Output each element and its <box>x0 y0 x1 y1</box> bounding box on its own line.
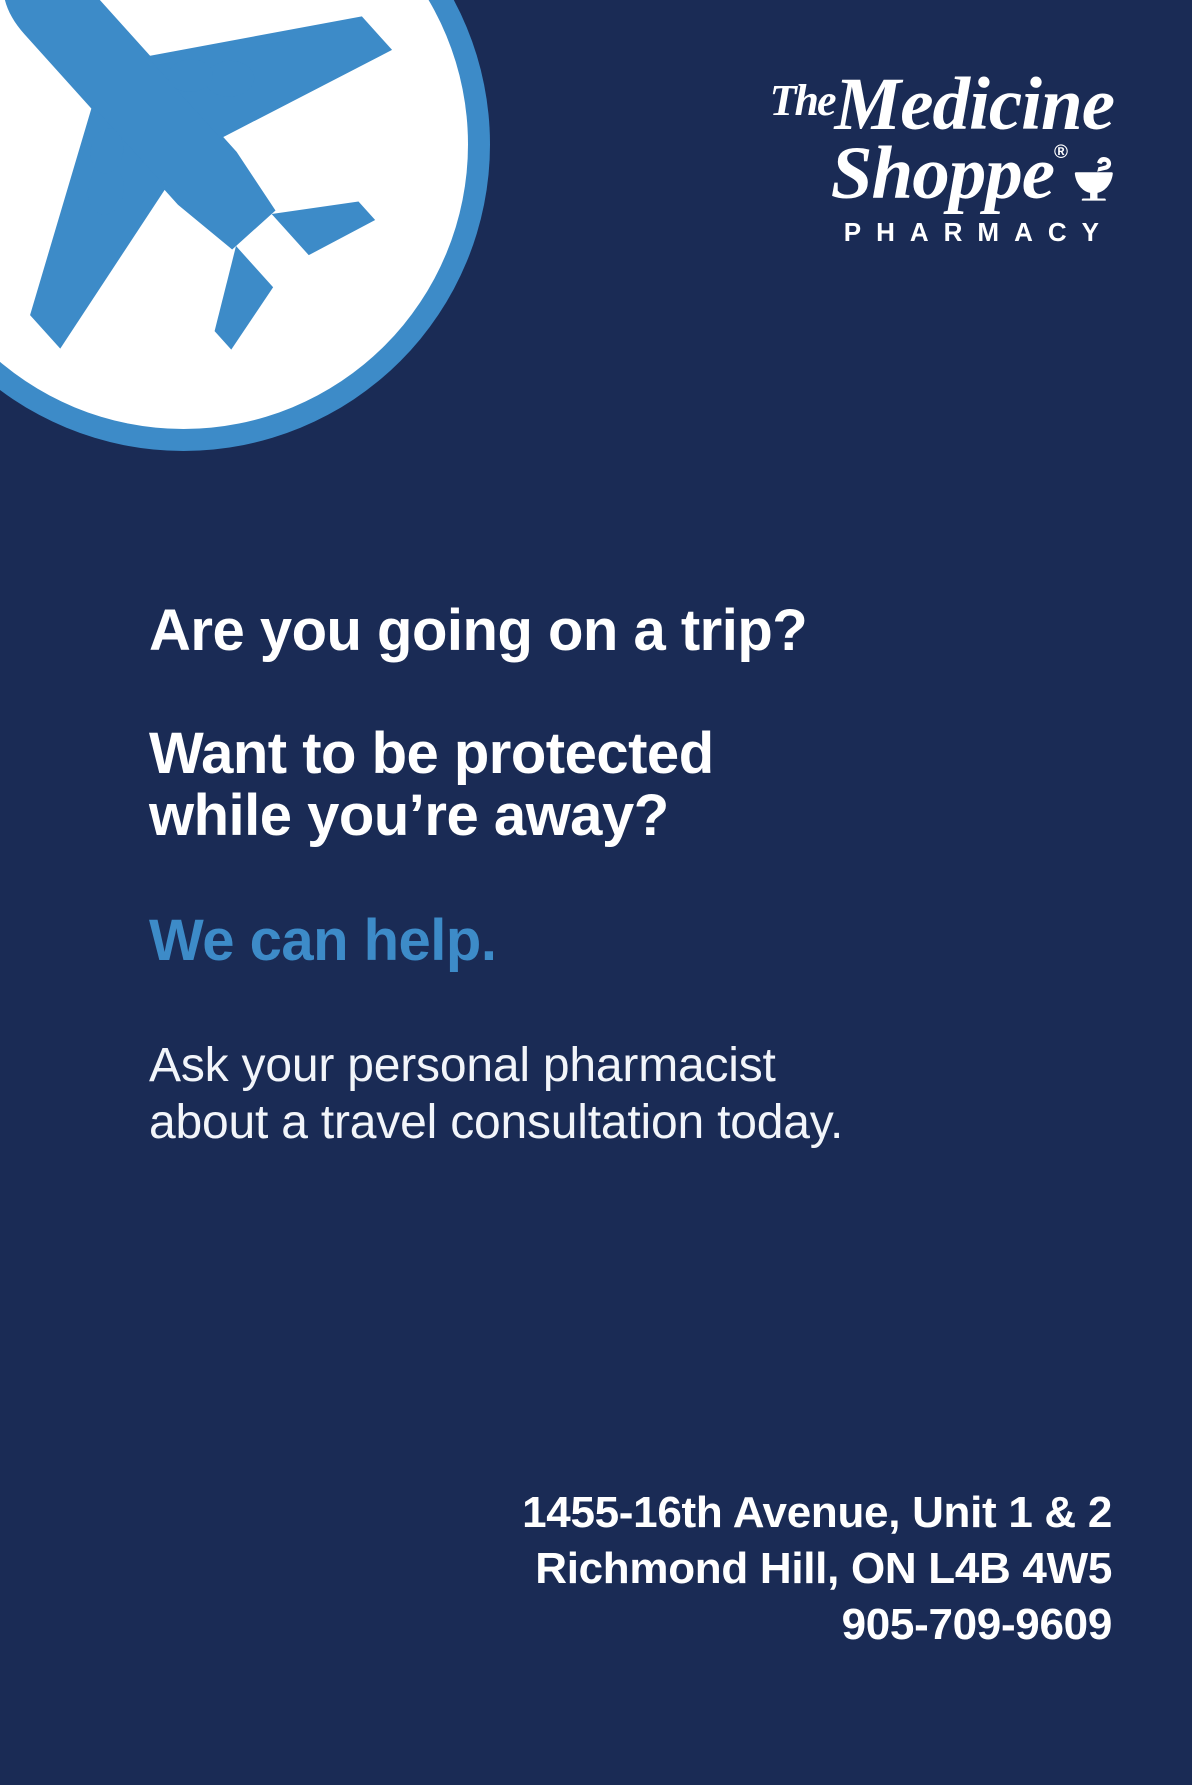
headline-primary: Are you going on a trip? <box>149 600 1112 661</box>
airplane-badge <box>0 0 490 451</box>
headline-secondary-line-2: while you’re away? <box>149 783 669 848</box>
body-copy-line-2: about a travel consultation today. <box>149 1096 843 1149</box>
badge-disc <box>0 0 468 429</box>
airplane-icon <box>0 0 397 363</box>
headline-secondary-line-1: Want to be protected <box>149 721 714 786</box>
registered-mark-icon: ® <box>1054 142 1068 164</box>
copy-block: Are you going on a trip? Want to be prot… <box>149 600 1112 1151</box>
logo-word-shoppe: Shoppe <box>831 140 1054 208</box>
logo-line-one: TheMedicine <box>674 72 1114 138</box>
body-copy-line-1: Ask your personal pharmacist <box>149 1039 776 1092</box>
headline-accent: We can help. <box>149 910 1112 971</box>
headline-secondary: Want to be protected while you’re away? <box>149 723 1112 846</box>
logo-tagline: PHARMACY <box>674 217 1114 248</box>
brand-logo: TheMedicine Shoppe ® PHARMACY <box>674 72 1114 248</box>
address-line-1: 1455-16th Avenue, Unit 1 & 2 <box>522 1485 1112 1541</box>
logo-line-two: Shoppe ® <box>674 140 1114 208</box>
address-block: 1455-16th Avenue, Unit 1 & 2 Richmond Hi… <box>522 1485 1112 1653</box>
badge-ring <box>0 0 490 451</box>
poster-canvas: TheMedicine Shoppe ® PHARMACY Are you go… <box>0 0 1192 1785</box>
logo-the: The <box>770 76 835 125</box>
body-copy: Ask your personal pharmacist about a tra… <box>149 1038 1112 1151</box>
address-line-2: Richmond Hill, ON L4B 4W5 <box>522 1541 1112 1597</box>
mortar-and-pestle-icon <box>1073 156 1115 202</box>
phone-number[interactable]: 905-709-9609 <box>522 1597 1112 1653</box>
